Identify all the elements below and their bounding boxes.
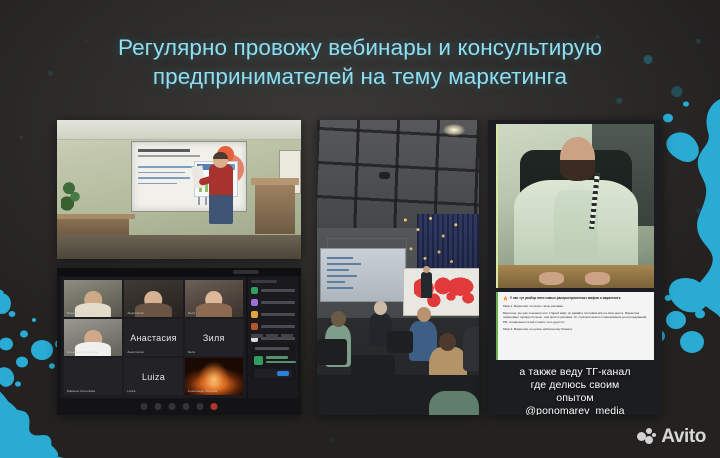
- list-item[interactable]: [251, 323, 295, 330]
- audience-head: [439, 333, 456, 351]
- avito-logo: Avito: [637, 427, 706, 446]
- slide-title-bar: [138, 149, 190, 152]
- sidebar-tabs[interactable]: [251, 334, 295, 338]
- call-controls: [141, 403, 218, 410]
- page-title: Регулярно провожу вебинары и консультиру…: [0, 33, 720, 91]
- chair: [319, 379, 377, 415]
- camera-icon[interactable]: [155, 403, 162, 410]
- microphone-icon[interactable]: [141, 403, 148, 410]
- screenshot-video-call[interactable]: Пономарев Антон Анастасия: [57, 268, 301, 415]
- telegram-post-title: У нас тут разбор пяти самых распростране…: [510, 296, 621, 300]
- podium: [255, 182, 295, 234]
- page-title-line-2: предпринимателей на тему маркетинга: [0, 62, 720, 91]
- participant-name: Зиля: [188, 350, 196, 354]
- photo-presentation[interactable]: [57, 120, 301, 259]
- video-call-toolbar: [57, 399, 301, 415]
- audience-head: [374, 301, 387, 315]
- list-item[interactable]: [251, 311, 295, 318]
- participant-tile[interactable]: Пономарев Антон: [64, 280, 122, 317]
- participant-tile[interactable]: Марина Соколова: [64, 358, 122, 395]
- participant-name: Пономарев Антон: [67, 311, 95, 315]
- avito-wordmark: Avito: [661, 427, 706, 446]
- avatar: [251, 299, 258, 306]
- avito-mark-icon: [637, 428, 657, 446]
- participant-tile[interactable]: Зиля Зиля: [185, 319, 243, 356]
- participant-name: Александр Фирсов: [188, 389, 217, 393]
- participant-tile[interactable]: Александр Фирсов: [185, 358, 243, 395]
- chat-message: [254, 356, 296, 365]
- meeting-id-pill: [233, 270, 259, 274]
- telegram-post-header: 🔥 У нас тут разбор пяти самых распростра…: [503, 296, 650, 301]
- projector-screen: [320, 248, 406, 302]
- telegram-post-paragraph: Миф 1: Маркетинг это всего лишь реклама: [503, 304, 650, 308]
- photo-seminar[interactable]: [317, 120, 479, 415]
- caption-handle: @ponomarev_media: [492, 405, 658, 415]
- participant-name: Анастасия: [127, 311, 143, 315]
- send-button[interactable]: [277, 371, 289, 376]
- participant-tile[interactable]: Анастасия: [124, 280, 182, 317]
- chat-icon[interactable]: [197, 403, 204, 410]
- participant-name: Александр Романов: [67, 350, 98, 354]
- caption-line-3: опытом: [492, 392, 658, 405]
- participant-name: Luiza: [127, 389, 135, 393]
- end-call-icon[interactable]: [211, 403, 218, 410]
- audience-person: [463, 327, 479, 371]
- chat-pane: [251, 343, 295, 380]
- poster-canvas: Регулярно провожу вебинары и консультиру…: [0, 0, 720, 458]
- audience-head: [331, 311, 346, 327]
- telegram-post-paragraph: Миф 2: Маркетинг не нужен небольшому биз…: [503, 327, 650, 331]
- screenshot-telegram[interactable]: 🔥 У нас тут разбор пяти самых распростра…: [488, 120, 662, 415]
- share-screen-icon[interactable]: [169, 403, 176, 410]
- room-ceiling: [57, 120, 301, 140]
- telegram-video-still[interactable]: [496, 124, 654, 288]
- participant-name: Марина Соколова: [67, 389, 95, 393]
- participant-tile[interactable]: Анастасия Анастасия: [124, 319, 182, 356]
- potted-plant: [61, 178, 81, 212]
- participant-tile[interactable]: Зиля: [185, 280, 243, 317]
- podium-top: [251, 178, 299, 185]
- list-item[interactable]: [251, 299, 295, 306]
- chat-header: [255, 347, 289, 350]
- participant-name: Зиля: [188, 311, 196, 315]
- participant-tile[interactable]: Luiza Luiza: [124, 358, 182, 395]
- presenter-head: [423, 266, 430, 273]
- side-desk-top: [57, 214, 135, 219]
- ceiling-spotlight: [379, 172, 390, 179]
- avatar: [251, 287, 258, 294]
- room-floor: [57, 235, 301, 259]
- audience: [317, 297, 479, 415]
- participant-tile[interactable]: Александр Романов: [64, 319, 122, 356]
- speaker-body: [209, 164, 233, 224]
- person-hand-right: [585, 272, 610, 285]
- participant-name: Анастасия: [127, 350, 143, 354]
- person-hand-left: [539, 272, 564, 285]
- office-desk: [498, 265, 654, 288]
- ceiling-lamp: [443, 124, 465, 136]
- telegram-post-paragraph: Вероятно, вы уже слышали этот старый миф…: [503, 311, 650, 324]
- fire-icon: 🔥: [503, 296, 508, 301]
- avatar: [251, 311, 258, 318]
- chair: [387, 331, 413, 353]
- video-call-sidebar: [248, 277, 298, 398]
- video-call-topbar: [57, 268, 301, 276]
- audience-head: [417, 307, 431, 322]
- chair: [317, 339, 347, 365]
- list-item[interactable]: [251, 287, 295, 294]
- person-beard: [560, 160, 594, 181]
- caption-line-1: а также веду ТГ-канал: [492, 366, 658, 379]
- speaker-hair: [213, 152, 228, 159]
- video-grid-area: Пономарев Антон Анастасия: [61, 277, 246, 398]
- avatar: [254, 356, 263, 365]
- slide-text-lines: [138, 166, 194, 188]
- page-title-line-1: Регулярно провожу вебинары и консультиру…: [0, 33, 720, 62]
- telegram-caption: а также веду ТГ-канал где делюсь своим о…: [492, 366, 658, 415]
- sidebar-title: [251, 280, 277, 283]
- video-grid: Пономарев Антон Анастасия: [64, 280, 243, 395]
- avatar: [251, 323, 258, 330]
- slide-subtitle-bar: [138, 155, 200, 157]
- participants-icon[interactable]: [183, 403, 190, 410]
- caption-line-2: где делюсь своим: [492, 379, 658, 392]
- telegram-post[interactable]: 🔥 У нас тут разбор пяти самых распростра…: [496, 292, 654, 360]
- audience-person: [429, 391, 479, 415]
- presenter-body: [421, 272, 432, 298]
